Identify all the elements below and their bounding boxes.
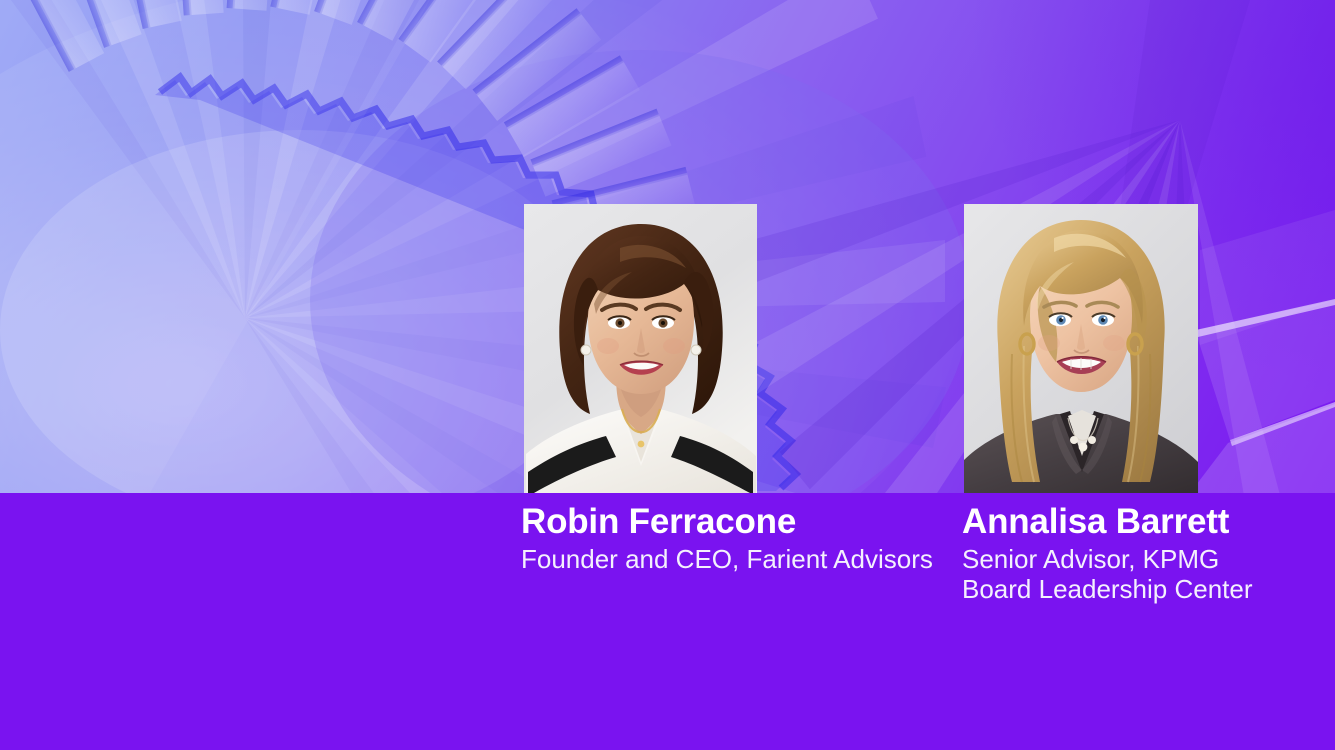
speaker-role-2: Senior Advisor, KPMG Board Leadership Ce… [962, 544, 1292, 604]
portrait-robin-ferracone [524, 204, 757, 493]
speaker-block-1: Robin Ferracone Founder and CEO, Farient… [521, 503, 933, 574]
speaker-name-1: Robin Ferracone [521, 503, 933, 541]
slide-canvas: Robin Ferracone Founder and CEO, Farient… [0, 0, 1335, 750]
portrait-annalisa-barrett [964, 204, 1198, 493]
speaker-name-2: Annalisa Barrett [962, 503, 1292, 541]
speaker-block-2: Annalisa Barrett Senior Advisor, KPMG Bo… [962, 503, 1292, 604]
speaker-role-1: Founder and CEO, Farient Advisors [521, 544, 933, 574]
speaker-photo-robin-ferracone [524, 204, 757, 493]
speaker-photo-annalisa-barrett [964, 204, 1198, 493]
